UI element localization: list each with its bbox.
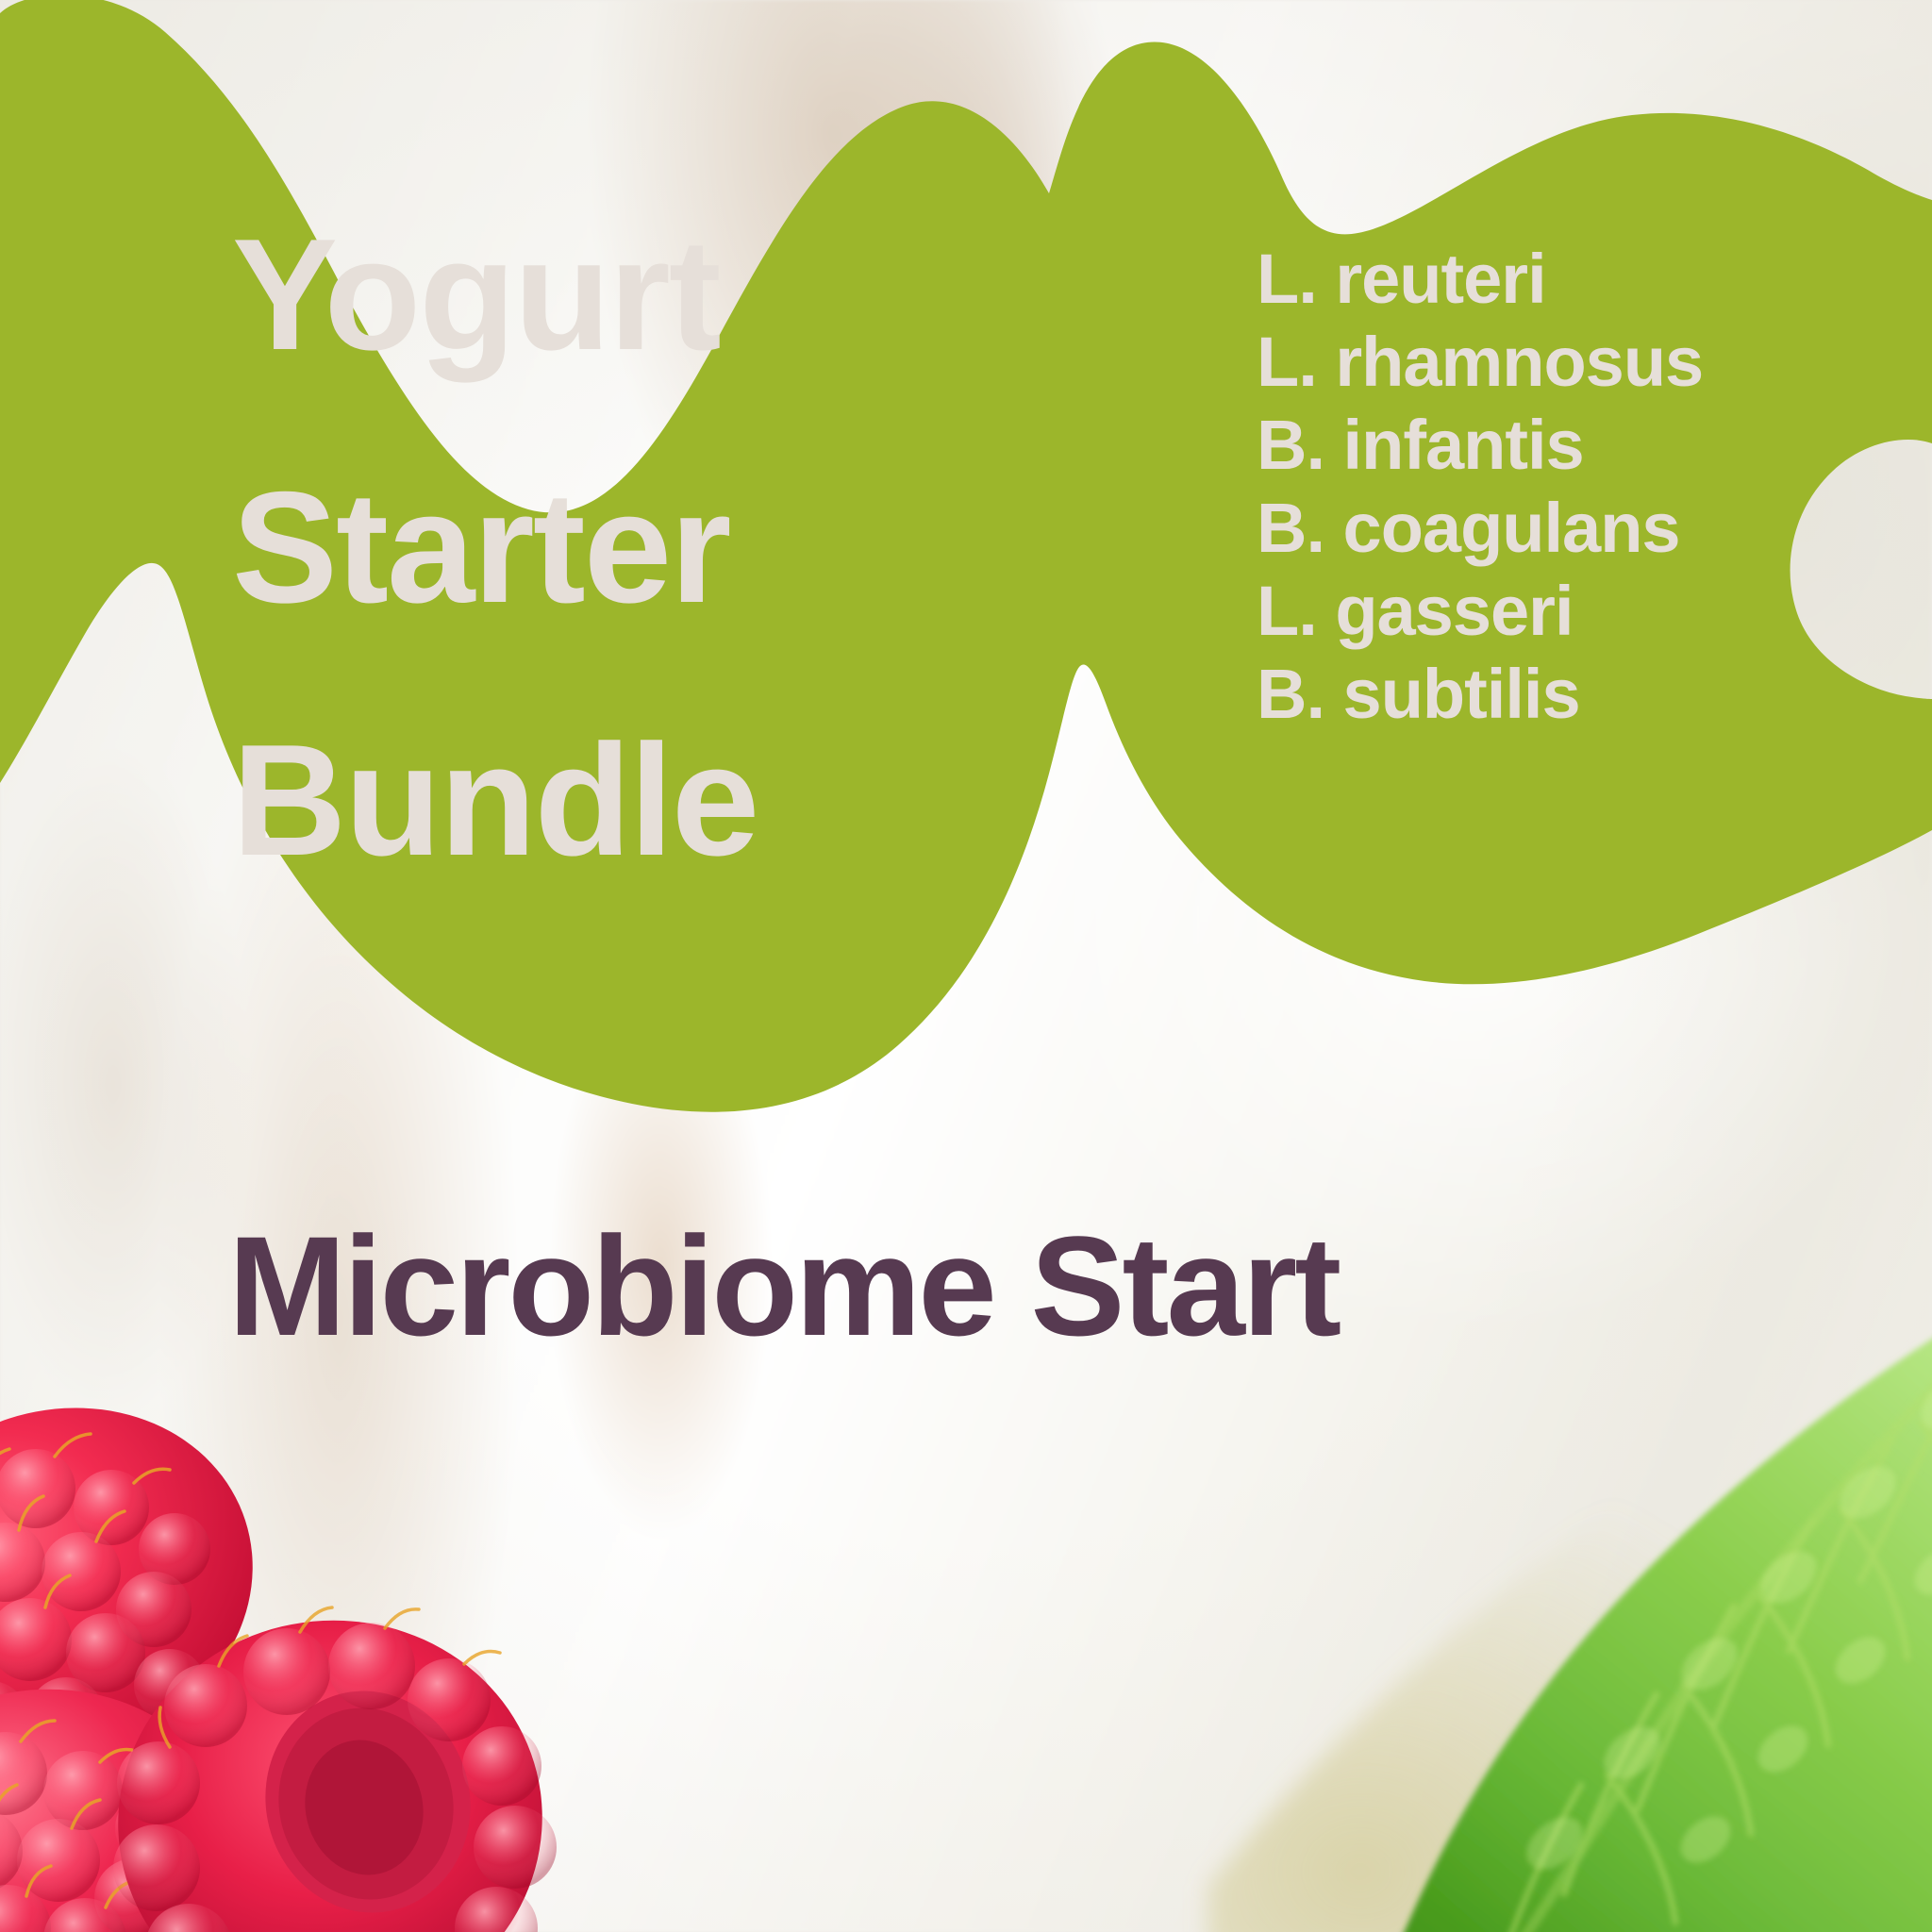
- species-item-5: B. subtilis: [1257, 653, 1703, 736]
- species-item-1: L. rhamnosus: [1257, 321, 1703, 404]
- headline-line-3: Bundle: [232, 674, 758, 926]
- headline-line-2: Starter: [232, 421, 758, 674]
- page-title: Yogurt Starter Bundle: [232, 168, 758, 926]
- headline-line-1: Yogurt: [232, 168, 758, 421]
- species-item-0: L. reuteri: [1257, 238, 1703, 321]
- species-item-2: B. infantis: [1257, 404, 1703, 487]
- species-item-3: B. coagulans: [1257, 487, 1703, 570]
- species-item-4: L. gasseri: [1257, 570, 1703, 653]
- species-list: L. reuteri L. rhamnosus B. infantis B. c…: [1257, 238, 1703, 736]
- raspberries-image: [0, 1377, 660, 1932]
- mint-leaf-image: [1094, 1245, 1932, 1932]
